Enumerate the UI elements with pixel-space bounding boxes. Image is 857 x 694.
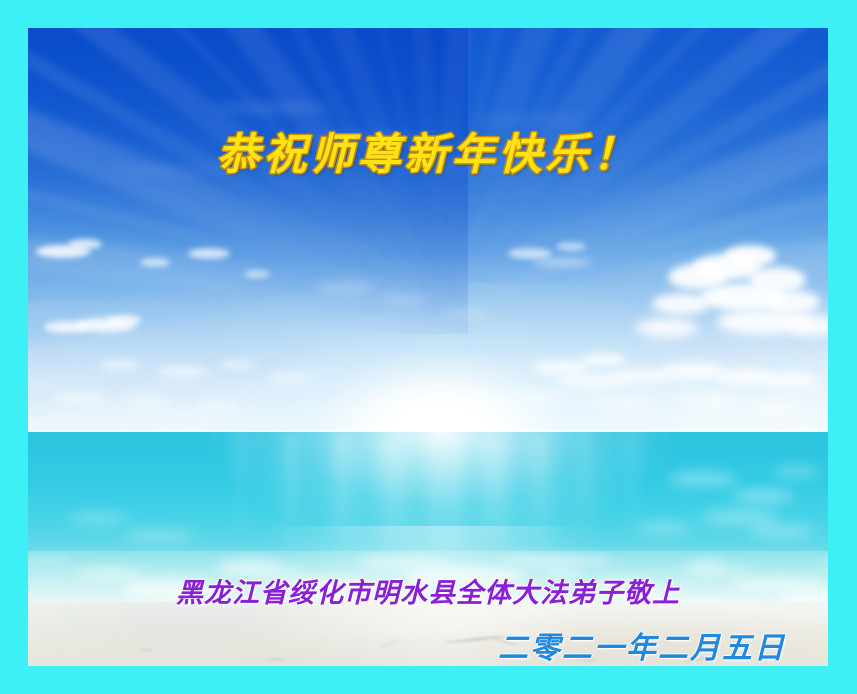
cloud-wisp: [60, 411, 270, 415]
ocean-light-streak: [428, 432, 462, 560]
cloud: [556, 242, 586, 251]
ocean-light-streak: [332, 432, 352, 560]
cloud: [676, 395, 738, 407]
ocean-light-streak: [532, 432, 550, 560]
cloud: [588, 398, 654, 410]
cloud: [444, 309, 488, 317]
ocean-light-streak: [628, 432, 638, 540]
greeting-title: 恭祝师尊新年快乐！: [28, 120, 828, 182]
ocean-light-streak: [380, 432, 406, 560]
ocean-sparkle: [68, 512, 128, 524]
cloud: [220, 360, 256, 369]
ocean: [28, 432, 828, 560]
cloud: [652, 293, 710, 315]
ocean-light-streak: [236, 432, 246, 540]
cloud: [68, 239, 102, 249]
cloud: [532, 258, 592, 267]
ocean-sparkle: [772, 466, 820, 478]
ocean-sparkle: [700, 509, 780, 525]
ocean-sparkle: [668, 471, 738, 487]
surf-foam: [28, 556, 68, 564]
cloud: [52, 392, 106, 403]
sand-mark: [268, 658, 284, 660]
ocean-sparkle: [732, 489, 794, 503]
cloud: [380, 296, 428, 303]
cloud: [140, 258, 170, 267]
ocean-sparkle: [636, 522, 692, 534]
cloud-wisp: [172, 424, 362, 427]
cloud: [124, 398, 172, 408]
cloud: [268, 373, 312, 383]
cloud-wisp: [76, 379, 216, 382]
ocean-light-streak: [580, 432, 592, 560]
cloud: [100, 360, 140, 370]
card-date: 二零二一年二月五日: [498, 623, 786, 666]
cloud: [212, 105, 332, 111]
sender-signature: 黑龙江省绥化市明水县全体大法弟子敬上: [28, 571, 828, 610]
cloud: [724, 245, 776, 267]
cloud: [764, 373, 818, 388]
ocean-light-streak: [484, 432, 508, 560]
surf-foam: [496, 556, 614, 564]
ocean-light-streak: [284, 432, 298, 560]
beach-photo: 恭祝师尊新年快乐！ 黑龙江省绥化市明水县全体大法弟子敬上 二零二一年二月五日: [28, 28, 828, 666]
surf-foam: [825, 556, 828, 569]
greeting-card-frame: 恭祝师尊新年快乐！ 黑龙江省绥化市明水县全体大法弟子敬上 二零二一年二月五日: [0, 0, 857, 694]
